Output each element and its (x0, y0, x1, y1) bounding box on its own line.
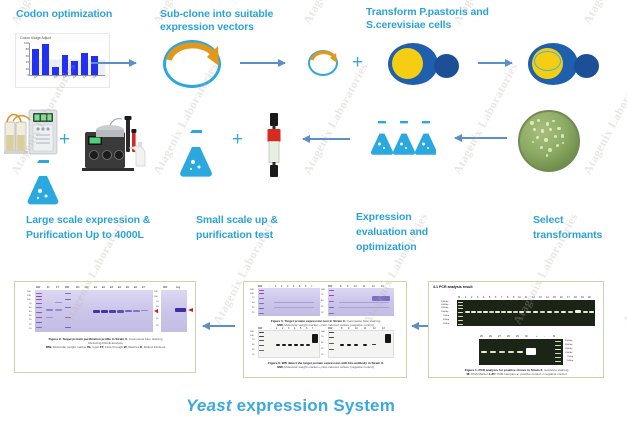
chart-bar (62, 55, 69, 75)
flask-icon-triple (370, 120, 436, 156)
arrow-subclone-to-transform (240, 62, 285, 64)
codon-usage-chart: Codon Usage Adjust 100 80 60 40 20 0 ATG… (15, 33, 110, 88)
figure-expression-caption-top: Figure 5. Target protein expression test… (247, 319, 405, 327)
yeast-bud (574, 54, 599, 78)
plasmid-arrow-icon-small (308, 50, 338, 76)
page-title-rest: expression System (232, 396, 395, 415)
step-label-transform: Transform P.pastoris and S.cerevisiae ce… (366, 6, 526, 32)
chart-title: Codon Usage Adjust (20, 36, 51, 40)
yeast-cell-icon (388, 43, 462, 85)
arrow-expression-to-purification (203, 325, 235, 327)
plus-sign-largescale: + (59, 130, 70, 149)
step-label-select: Select transformants (533, 213, 623, 243)
step-label-evaluation: Expression evaluation and optimization (356, 210, 456, 255)
chromatography-column-icon (264, 113, 284, 177)
plasmid-arrow-icon (163, 40, 221, 88)
chart-bar (42, 44, 49, 75)
plasmid-icon (163, 40, 221, 88)
figure-expression-panel: MW - 1 2 3 4 5 6 7 MW 8 9 10 11 12 13 18… (243, 281, 407, 378)
arrow-codon-to-subclone (91, 62, 136, 64)
figure-pcr-caption: Figure 1. PCR analysis for positive clon… (432, 368, 602, 376)
step-label-largescale: Large scale expression & Purification Up… (26, 213, 176, 243)
flask-icon-large (24, 158, 64, 206)
watermark: Atagenix Laboratories (580, 0, 627, 27)
gel-image-pcr-top (457, 300, 595, 326)
figure-purification-panel: MW IN FT MW W1 W2 E1 E2 E3 E4 E5 E6 E7 M… (14, 281, 196, 373)
arrow-select-to-evaluation (455, 137, 507, 139)
target-band-arrow-icon (154, 309, 158, 313)
chart-plot-area: 100 80 60 40 20 0 ATG GAT AAA AAT CAG GA… (29, 43, 105, 76)
arrow-transform-to-transformed (478, 62, 512, 64)
page-title: Yeast expression System (186, 396, 395, 416)
step-label-subclone: Sub-clone into suitable expression vecto… (160, 8, 310, 34)
watermark: Atagenix Laboratories (300, 0, 371, 27)
plus-sign-transform: + (352, 53, 363, 72)
target-band-arrow-icon-right (188, 308, 193, 312)
yeast-bud (434, 54, 459, 78)
workflow-diagram: Codon optimization Codon Usage Adjust 10… (0, 0, 627, 422)
plus-sign-smallscale: + (232, 130, 243, 149)
plasmid-inside-cell (534, 51, 561, 71)
figure-expression-caption-bottom: Figure 6. WB detect the target protein e… (247, 361, 405, 369)
yeast-nucleus (392, 48, 423, 79)
flask-icon-medium (176, 128, 218, 178)
page-title-italic: Yeast (186, 396, 232, 415)
chart-bar (32, 49, 39, 75)
arrow-evaluation-to-smallscale (303, 138, 350, 140)
yeast-cell-transformed-icon (528, 43, 602, 85)
fermenter-instrument-image (3, 108, 59, 156)
figure-pcr-panel: 4.1 PCR analysis result M 1 2 3 4 5 6 7 … (428, 281, 604, 378)
figure-purification-caption: Figure 9. Target protein purification pr… (18, 337, 194, 349)
pcr-section-title: 4.1 PCR analysis result (433, 285, 473, 289)
petri-dish-image (518, 110, 580, 172)
column-bottom-cap (270, 165, 278, 177)
chromatography-system-image (80, 112, 150, 174)
step-label-smallscale: Small scale up & purification test (196, 213, 326, 243)
step-label-codon-optimization: Codon optimization (16, 8, 156, 21)
column-body (269, 141, 280, 163)
watermark: Atagenix Laboratories (300, 60, 371, 177)
plasmid-icon-small (308, 50, 338, 76)
